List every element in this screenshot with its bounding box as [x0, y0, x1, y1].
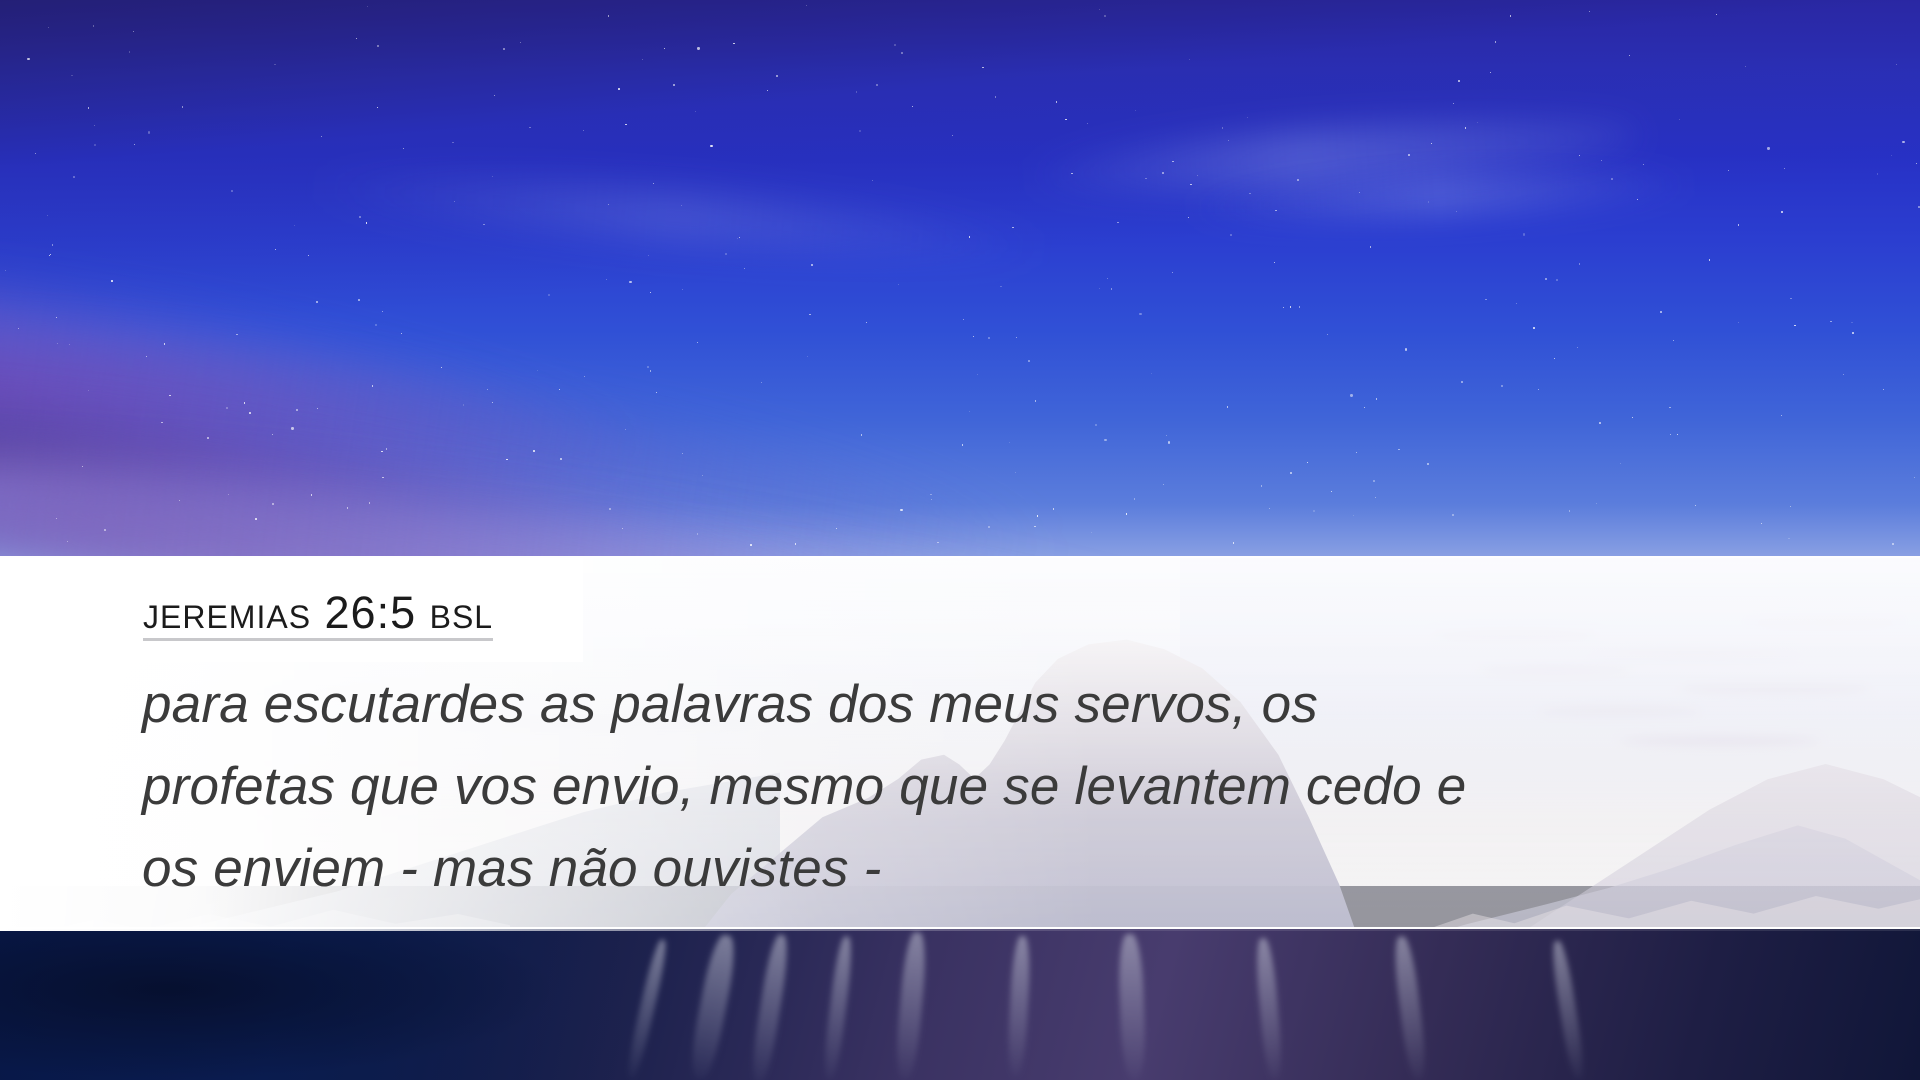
verse-line: profetas que vos envio, mesmo que se lev…	[142, 746, 1842, 828]
night-sky-background	[0, 0, 1920, 600]
valley-shadow	[0, 929, 560, 1080]
verse-line: para escutardes as palavras dos meus ser…	[142, 664, 1842, 746]
verse-content: Jeremias 26:5 BSL para escutardes as pal…	[0, 558, 1920, 931]
verse-reference: Jeremias 26:5 BSL	[143, 590, 493, 641]
verse-text: para escutardes as palavras dos meus ser…	[142, 664, 1842, 910]
verse-line: os enviem - mas não ouvistes -	[142, 828, 1842, 910]
starfield	[0, 0, 1920, 560]
verse-image-canvas: Jeremias 26:5 BSL para escutardes as pal…	[0, 0, 1920, 1080]
verse-panel: Jeremias 26:5 BSL para escutardes as pal…	[0, 556, 1920, 929]
